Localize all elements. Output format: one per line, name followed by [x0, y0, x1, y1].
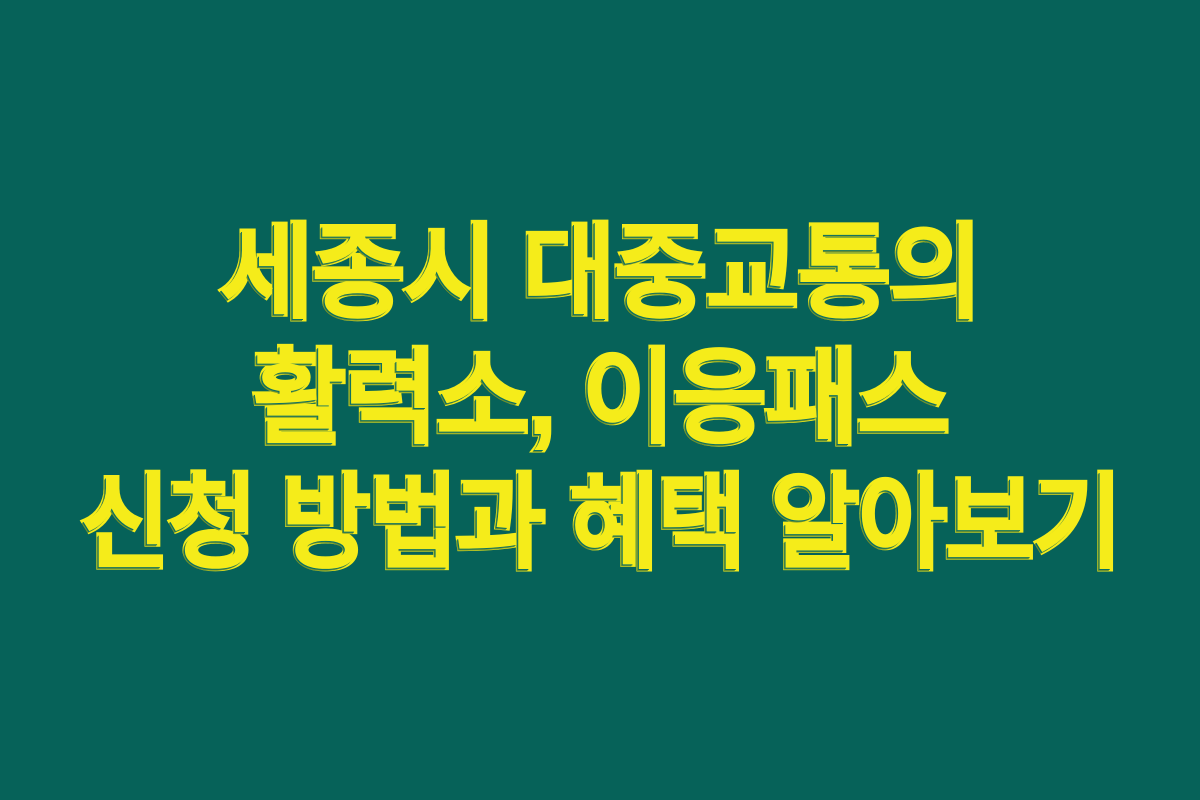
- headline-line-3: 신청 방법과 혜택 알아보기: [36, 461, 1164, 586]
- headline-line-1: 세종시 대중교통의: [9, 211, 1191, 336]
- headline-block: 세종시 대중교통의 활력소, 이응패스 신청 방법과 혜택 알아보기: [0, 211, 1200, 586]
- title-card: 세종시 대중교통의 활력소, 이응패스 신청 방법과 혜택 알아보기: [0, 0, 1200, 800]
- headline-line-2: 활력소, 이응패스: [9, 336, 1191, 461]
